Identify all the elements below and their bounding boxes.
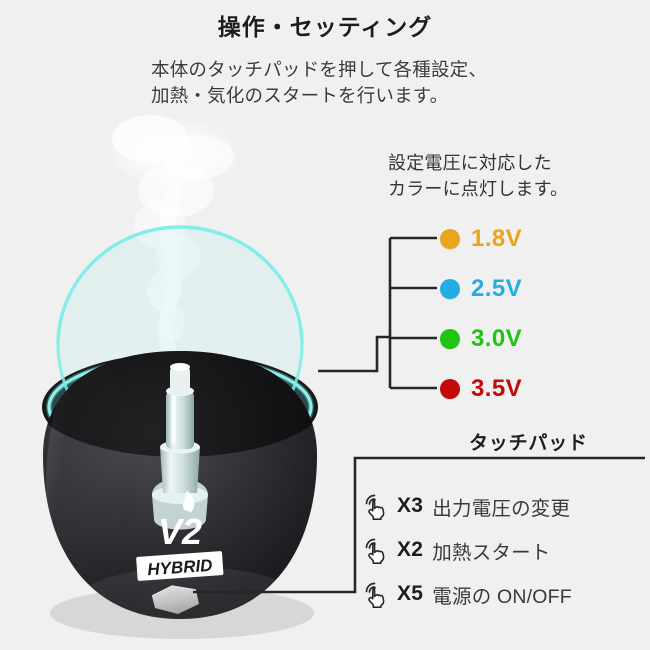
touchpad-text-2: 加熱スタート xyxy=(432,536,550,565)
voltage-color-dot-3-5v xyxy=(440,379,460,399)
tap-gesture-icon xyxy=(362,579,388,609)
product-photo-vaporizer: V2 HYBRID xyxy=(0,95,360,650)
voltage-item-3-0v: 3.0V xyxy=(440,322,522,356)
infographic-page: 操作・セッティング 本体のタッチパッドを押して各種設定、 加熱・気化のスタートを… xyxy=(0,0,650,650)
voltage-color-dot-2-5v xyxy=(440,279,460,299)
touchpad-count-2: X2 xyxy=(397,538,423,562)
brand-v2-text: V2 xyxy=(158,511,202,552)
touchpad-count-1: X3 xyxy=(397,494,423,518)
touchpad-text-1: 出力電圧の変更 xyxy=(432,492,570,521)
touchpad-item-start-heating: X2 加熱スタート xyxy=(362,531,551,569)
page-subtitle-line-1: 本体のタッチパッドを押して各種設定、 xyxy=(151,57,571,83)
voltage-color-dot-1-8v xyxy=(440,229,460,249)
touchpad-item-power-on-off: X5 電源の ON/OFF xyxy=(362,575,572,613)
voltage-heading-line-2: カラーに点灯します。 xyxy=(388,176,568,202)
touchpad-section-heading: タッチパッド xyxy=(469,428,588,455)
touchpad-text-3: 電源の ON/OFF xyxy=(432,580,572,609)
voltage-color-dot-3-0v xyxy=(440,329,460,349)
voltage-label-1-8v: 1.8V xyxy=(471,225,522,253)
voltage-item-3-5v: 3.5V xyxy=(440,372,522,406)
voltage-item-1-8v: 1.8V xyxy=(440,222,522,256)
voltage-legend-heading: 設定電圧に対応した カラーに点灯します。 xyxy=(388,150,568,202)
voltage-heading-line-1: 設定電圧に対応した xyxy=(388,150,568,176)
tap-gesture-icon xyxy=(362,535,388,565)
touchpad-count-3: X5 xyxy=(397,582,423,606)
voltage-item-2-5v: 2.5V xyxy=(440,272,522,306)
tap-gesture-icon xyxy=(362,491,388,521)
voltage-label-3-0v: 3.0V xyxy=(471,325,522,353)
voltage-label-2-5v: 2.5V xyxy=(471,275,522,303)
page-title: 操作・セッティング xyxy=(0,8,650,42)
touchpad-item-change-voltage: X3 出力電圧の変更 xyxy=(362,487,570,525)
voltage-label-3-5v: 3.5V xyxy=(471,375,522,403)
